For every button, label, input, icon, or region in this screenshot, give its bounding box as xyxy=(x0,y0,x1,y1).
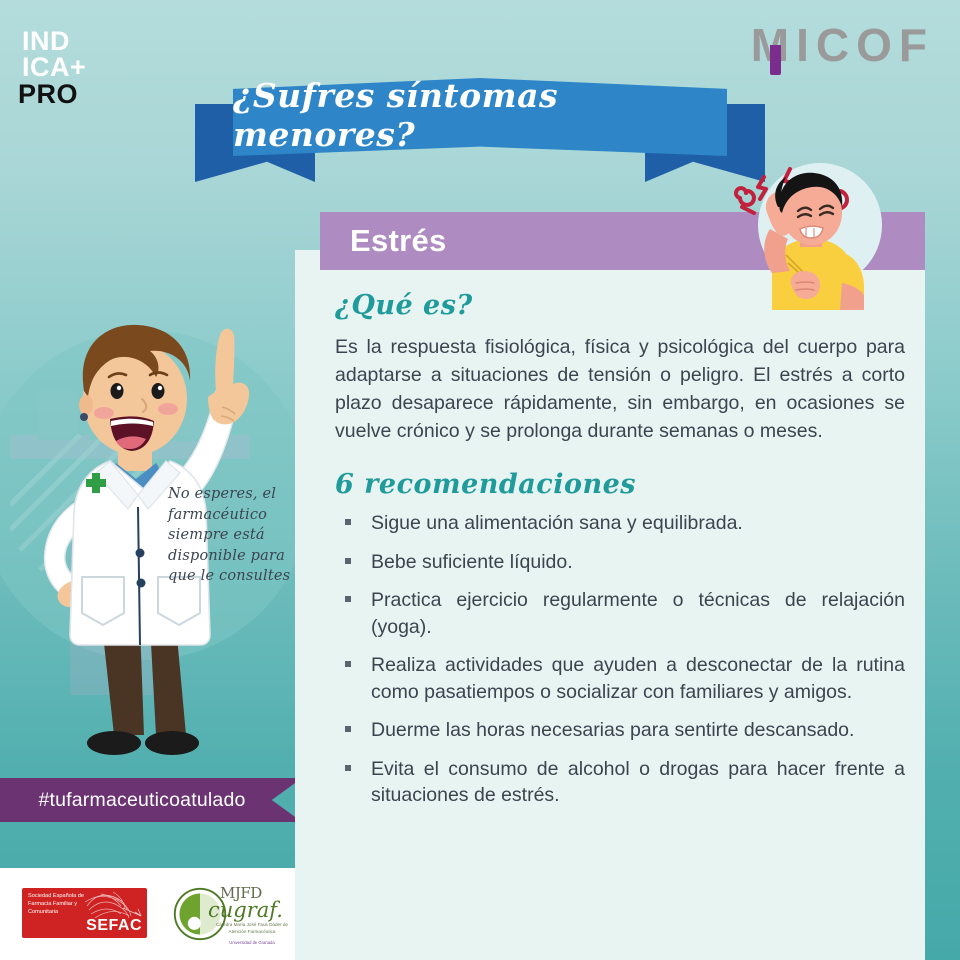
indica-pro-logo: IND ICA+ PRO xyxy=(22,28,132,107)
what-is-heading: ¿Qué es? xyxy=(335,290,905,321)
ribbon-banner: ¿Sufres síntomas menores? xyxy=(195,78,765,183)
list-item: Practica ejercicio regularmente o técnic… xyxy=(335,587,905,640)
panel-content: ¿Qué es? Es la respuesta fisiológica, fí… xyxy=(335,290,905,821)
cugraf-university: Universidad de Granada xyxy=(214,940,290,945)
list-item: Sigue una alimentación sana y equilibrad… xyxy=(335,510,905,537)
sefac-logo: Sociedad Española de Farmacia Familiar y… xyxy=(22,888,147,938)
list-item: Evita el consumo de alcohol o drogas par… xyxy=(335,756,905,809)
cugraf-logo: MJFD cugraf. Cátedra María José Faus Dád… xyxy=(172,884,294,946)
cugraf-subtitle: Cátedra María José Faus Dáder de Atenció… xyxy=(214,922,290,936)
sefac-description: Sociedad Española de Farmacia Familiar y… xyxy=(28,893,90,917)
sefac-acronym: SEFAC xyxy=(86,917,142,935)
what-is-body-text: Es la respuesta fisiológica, física y ps… xyxy=(335,333,905,445)
list-item: Realiza actividades que ayuden a descone… xyxy=(335,652,905,705)
indica-logo-line1: IND xyxy=(22,28,132,54)
stressed-person-illustration xyxy=(728,155,898,310)
pharmacist-handwritten-note: No esperes, el farmacéutico siempre está… xyxy=(168,484,303,587)
micof-accent-bar xyxy=(770,45,781,75)
hashtag-banner: #tufarmaceuticoatulado xyxy=(0,778,302,822)
hashtag-label: #tufarmaceuticoatulado xyxy=(38,789,245,812)
recommendations-heading: 6 recomendaciones xyxy=(335,469,905,500)
indica-logo-line2: ICA+ xyxy=(22,54,132,80)
recommendations-list: Sigue una alimentación sana y equilibrad… xyxy=(335,510,905,809)
section-title: Estrés xyxy=(350,223,447,259)
list-item: Bebe suficiente líquido. xyxy=(335,549,905,576)
cugraf-name: cugraf. xyxy=(208,898,283,922)
list-item: Duerme las horas necesarias para sentirt… xyxy=(335,717,905,744)
infographic-canvas: IND ICA+ PRO MICOF ¿Sufres síntomas meno… xyxy=(0,0,960,960)
ribbon-question-text: ¿Sufres síntomas menores? xyxy=(233,76,727,154)
indica-logo-line3: PRO xyxy=(18,81,132,107)
micof-logo: MICOF xyxy=(751,22,934,68)
